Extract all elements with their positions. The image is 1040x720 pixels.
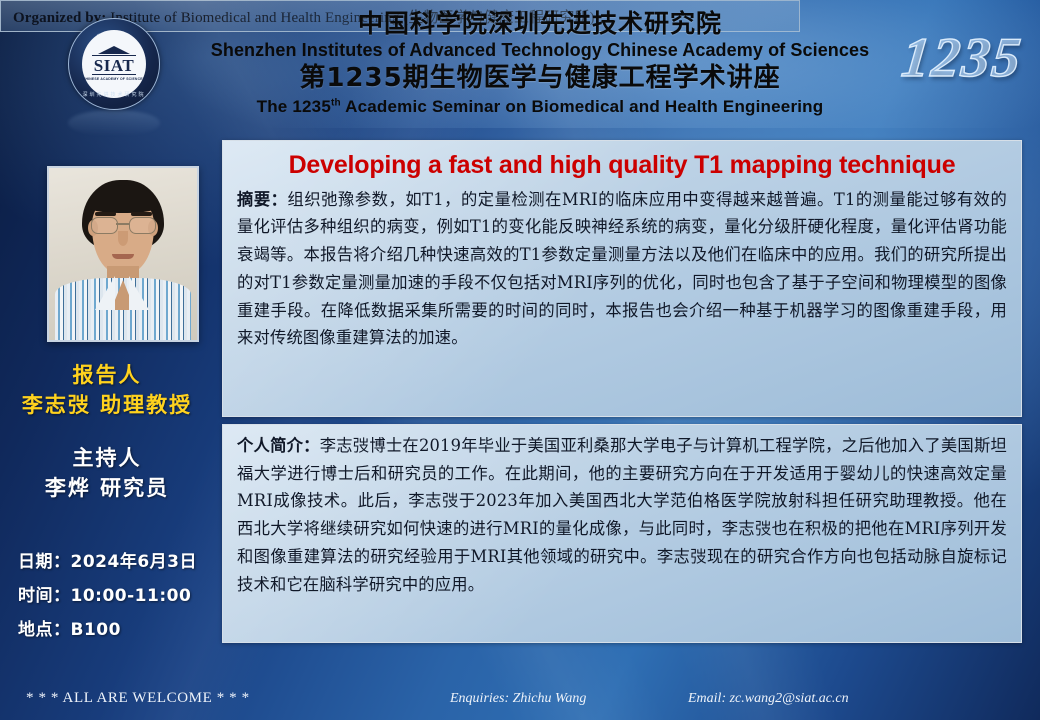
seminar-poster: 中国科学院 SIAT CHINESE ACADEMY OF SCIENCES 深… xyxy=(0,0,1040,720)
temple-roof-icon xyxy=(96,46,132,54)
poster-header: 中国科学院 SIAT CHINESE ACADEMY OF SCIENCES 深… xyxy=(0,0,1040,128)
portrait-eyebrow-left xyxy=(95,212,116,216)
speaker-name: 李志弢 助理教授 xyxy=(0,390,214,420)
logo-reflection xyxy=(68,110,160,136)
talk-title: Developing a fast and high quality T1 ma… xyxy=(237,151,1007,180)
organization-name-cn: 中国科学院深圳先进技术研究院 xyxy=(180,10,900,39)
portrait-nose xyxy=(118,231,128,246)
host-info-block: 主持人 李烨 研究员 xyxy=(0,443,214,504)
portrait-mouth xyxy=(112,254,134,259)
welcome-note: * * * ALL ARE WELCOME * * * xyxy=(26,690,250,707)
host-label: 主持人 xyxy=(0,443,214,473)
logo-cas-text: CHINESE ACADEMY OF SCIENCES xyxy=(83,77,145,81)
portrait-collar-right xyxy=(129,276,149,310)
organization-name-en: Shenzhen Institutes of Advanced Technolo… xyxy=(180,40,900,61)
speaker-label: 报告人 xyxy=(0,360,214,390)
speaker-info-block: 报告人 李志弢 助理教授 主持人 李烨 研究员 xyxy=(0,360,214,504)
logo-arc-bottom-text: 深圳先进技术研究院 xyxy=(68,91,160,98)
seminar-title-cn: 第1235期生物医学与健康工程学术讲座 xyxy=(180,63,900,94)
portrait-glasses-bridge xyxy=(116,223,129,225)
biography-label: 个人简介： xyxy=(237,436,320,455)
abstract-box: Developing a fast and high quality T1 ma… xyxy=(222,140,1022,417)
biography-paragraph: 个人简介：李志弢博士在2019年毕业于美国亚利桑那大学电子与计算机工程学院，之后… xyxy=(237,432,1007,598)
seminar-en-rest: Academic Seminar on Biomedical and Healt… xyxy=(341,97,824,116)
portrait-lens-left xyxy=(91,217,118,234)
event-date: 日期：2024年6月3日 xyxy=(18,545,218,579)
biography-box: 个人简介：李志弢博士在2019年毕业于美国亚利桑那大学电子与计算机工程学院，之后… xyxy=(222,424,1022,643)
siat-logo: 中国科学院 SIAT CHINESE ACADEMY OF SCIENCES 深… xyxy=(68,18,160,110)
logo-inner-seal: SIAT CHINESE ACADEMY OF SCIENCES xyxy=(82,30,146,98)
abstract-label: 摘要： xyxy=(237,190,288,209)
portrait-collar-left xyxy=(95,276,115,310)
header-title-group: 中国科学院深圳先进技术研究院 Shenzhen Institutes of Ad… xyxy=(180,10,900,116)
speaker-photo-frame xyxy=(47,166,199,342)
event-venue: 地点：B100 xyxy=(18,613,218,647)
abstract-paragraph: 摘要：组织弛豫参数，如T1，的定量检测在MRI的临床应用中变得越来越普遍。T1的… xyxy=(237,186,1007,352)
event-time: 时间：10:00-11:00 xyxy=(18,579,218,613)
seminar-title-en: The 1235th Academic Seminar on Biomedica… xyxy=(180,97,900,117)
host-name: 李烨 研究员 xyxy=(0,473,214,503)
enquiries-contact: Enquiries: Zhichu Wang xyxy=(450,691,586,707)
event-details-block: 日期：2024年6月3日 时间：10:00-11:00 地点：B100 xyxy=(18,545,218,647)
portrait-lens-right xyxy=(129,217,156,234)
speaker-portrait xyxy=(49,168,197,340)
biography-body-text: 李志弢博士在2019年毕业于美国亚利桑那大学电子与计算机工程学院，之后他加入了美… xyxy=(237,436,1007,594)
abstract-body-text: 组织弛豫参数，如T1，的定量检测在MRI的临床应用中变得越来越普遍。T1的测量能… xyxy=(237,190,1007,348)
issue-number-watermark: 1235 xyxy=(899,26,1026,90)
seminar-en-prefix: The 1235 xyxy=(257,97,331,116)
logo-siat-text: SIAT xyxy=(92,55,136,75)
contact-email: Email: zc.wang2@siat.ac.cn xyxy=(688,691,849,707)
seminar-en-ordinal: th xyxy=(331,97,341,108)
portrait-eyebrow-right xyxy=(131,212,152,216)
